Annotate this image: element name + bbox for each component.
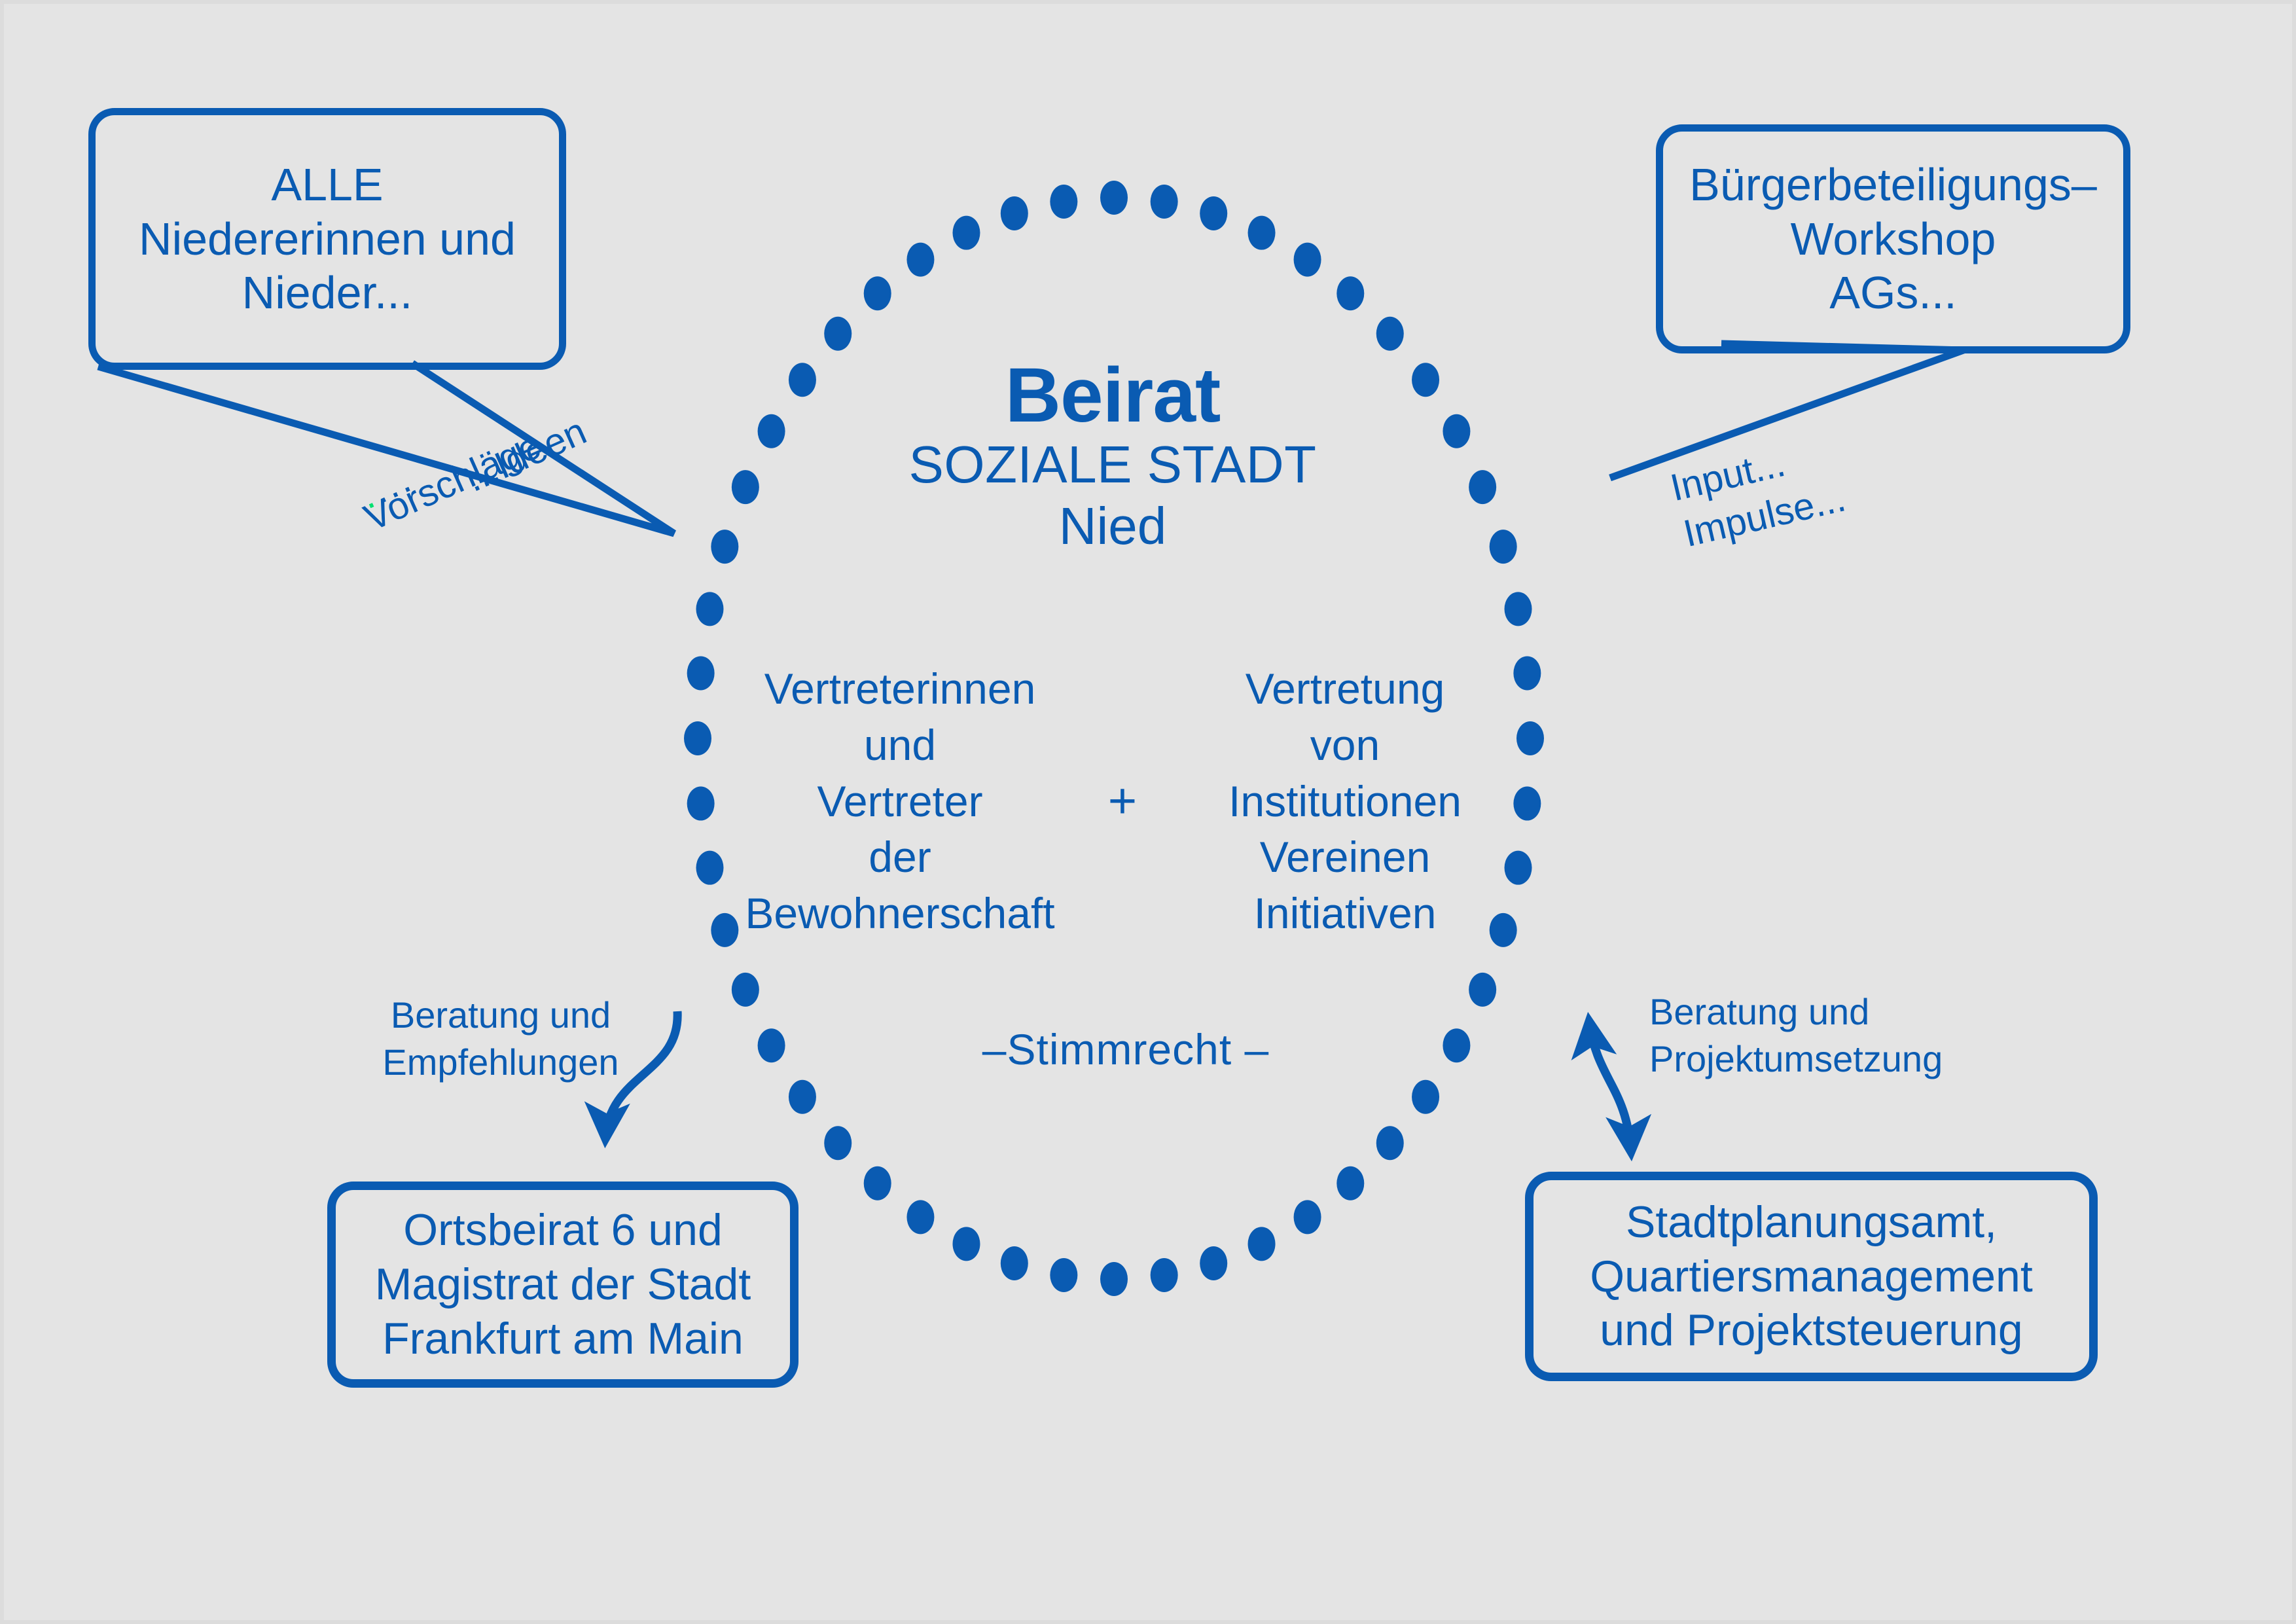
ring-dot <box>1336 276 1364 310</box>
ring-dot <box>906 1200 934 1234</box>
ring-dot <box>1200 1246 1227 1280</box>
arrow-beirat-stadtplanung-bidirectional <box>1589 1021 1631 1152</box>
plus-sign: + <box>1077 776 1168 826</box>
speech-bubble-all-residents[interactable]: ALLENiedererinnen undNieder... <box>88 108 566 370</box>
ring-dot <box>1151 185 1178 219</box>
ring-dot <box>1469 973 1496 1007</box>
center-column-residents: VertreterinnenundVertreterderBewohnersch… <box>723 661 1077 942</box>
ring-dot <box>1294 1200 1321 1234</box>
ring-dot <box>1050 1258 1077 1292</box>
center-composition-block: VertreterinnenundVertreterderBewohnersch… <box>687 661 1558 942</box>
annotation-beratung-empfehlungen: Beratung undEmpfehlungen <box>363 992 638 1085</box>
center-title-beirat: Beirat <box>674 357 1551 434</box>
ring-dot <box>1248 1227 1276 1261</box>
annotation-beratung-projektumsetzung: Beratung undProjektumsetzung <box>1649 988 1957 1082</box>
ring-dot <box>758 1028 785 1062</box>
ring-dot <box>1294 243 1321 277</box>
center-title-soziale-stadt: SOZIALE STADT <box>674 434 1551 496</box>
ring-dot <box>864 1166 891 1200</box>
ring-dot <box>696 592 723 626</box>
bubble-tail-right <box>1610 344 1964 478</box>
ring-dot <box>864 276 891 310</box>
center-voting-right-note: –Stimmrecht – <box>864 1024 1388 1074</box>
ring-dot <box>952 216 980 250</box>
ring-dot <box>1376 317 1404 351</box>
ring-dot <box>1100 181 1128 215</box>
ring-dot <box>1505 592 1532 626</box>
box-stadtplanungsamt[interactable]: Stadtplanungsamt,Quartiersmanagementund … <box>1525 1172 2098 1381</box>
speech-bubble-all-residents-label: ALLENiedererinnen undNieder... <box>139 158 516 320</box>
ring-dot <box>1100 1262 1128 1296</box>
ring-dot <box>1050 185 1077 219</box>
ring-dot <box>1001 1246 1028 1280</box>
center-column-institutions: VertretungvonInstitutionenVereinenInitia… <box>1168 661 1522 942</box>
speech-bubble-participation-workshop-label: Bürgerbeteiligungs–WorkshopAGs... <box>1689 158 2097 320</box>
ring-dot <box>952 1227 980 1261</box>
ring-dot <box>824 317 852 351</box>
ring-dot <box>732 973 759 1007</box>
ring-dot <box>824 1126 852 1160</box>
ring-dot <box>1001 196 1028 230</box>
ring-dot <box>1412 1080 1439 1114</box>
ring-dot <box>1443 1028 1470 1062</box>
center-title-nied: Nied <box>674 496 1551 557</box>
box-stadtplanungsamt-label: Stadtplanungsamt,Quartiersmanagementund … <box>1590 1195 2033 1358</box>
speech-bubble-participation-workshop[interactable]: Bürgerbeteiligungs–WorkshopAGs... <box>1656 124 2130 353</box>
diagram-canvas: ALLENiedererinnen undNieder... Bürgerbet… <box>0 0 2296 1624</box>
ring-dot <box>789 1080 816 1114</box>
ring-dot <box>1151 1258 1178 1292</box>
ring-dot <box>1200 196 1227 230</box>
ring-dot <box>906 243 934 277</box>
center-title-block: Beirat SOZIALE STADT Nied <box>674 357 1551 558</box>
ring-dot <box>1376 1126 1404 1160</box>
ring-dot <box>1248 216 1276 250</box>
box-ortsbeirat-magistrat[interactable]: Ortsbeirat 6 undMagistrat der StadtFrank… <box>327 1182 798 1388</box>
ring-dot <box>1336 1166 1364 1200</box>
box-ortsbeirat-magistrat-label: Ortsbeirat 6 undMagistrat der StadtFrank… <box>375 1203 751 1366</box>
